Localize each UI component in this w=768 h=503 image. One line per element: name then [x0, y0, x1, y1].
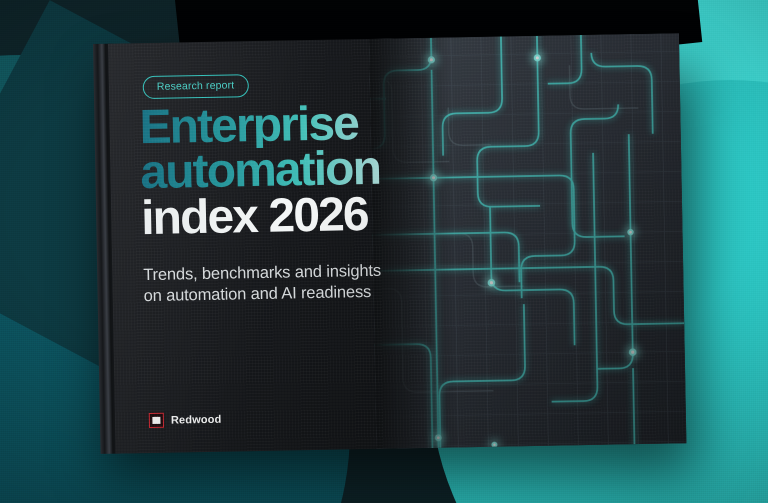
- book-front-cover: Research report Enterprise automation in…: [108, 33, 686, 453]
- redwood-logo: Redwood: [149, 412, 222, 428]
- circuit-board-svg: [369, 33, 686, 449]
- cover-title-line-3: index 2026: [141, 189, 492, 241]
- book-mockup: Research report Enterprise automation in…: [93, 33, 686, 454]
- research-report-badge: Research report: [143, 74, 249, 99]
- cover-subtitle: Trends, benchmarks and insights on autom…: [143, 259, 474, 307]
- circuit-board-graphic: [369, 33, 686, 449]
- cover-title: Enterprise automation index 2026: [139, 99, 491, 241]
- scene-stage: Research report Enterprise automation in…: [0, 0, 768, 503]
- redwood-logo-text: Redwood: [171, 413, 222, 426]
- redwood-logo-icon: [149, 413, 164, 428]
